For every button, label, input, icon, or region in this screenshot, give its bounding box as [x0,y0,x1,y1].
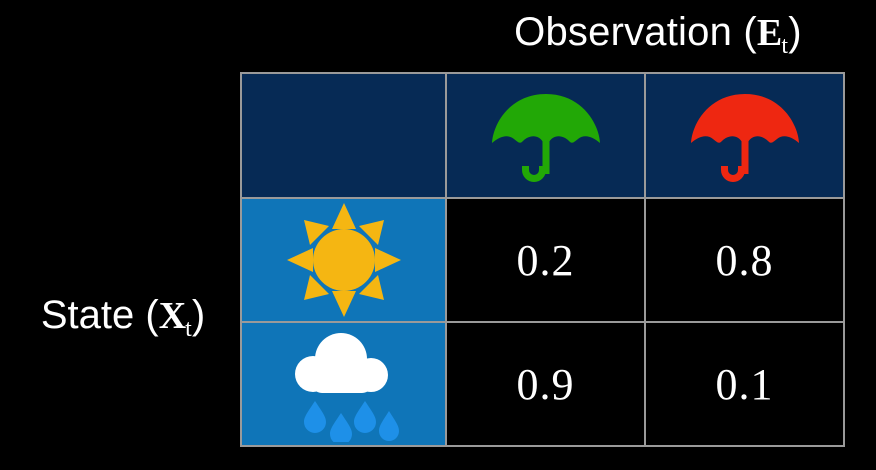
row-header-sun [241,198,446,322]
table-row: 0.2 0.8 [241,198,844,322]
table-header-row [241,73,844,198]
sun-icon [284,201,404,319]
observation-title-prefix: Observation ( [514,10,757,54]
state-subscript: t [185,316,192,342]
probability-cell: 0.9 [446,322,645,446]
state-title-suffix: ) [192,293,205,337]
observation-title: Observation (Et) [478,12,838,58]
column-header-red-umbrella [645,73,844,198]
umbrella-green-icon [487,86,605,186]
rain-cloud-icon [279,327,409,442]
probability-cell: 0.1 [645,322,844,446]
state-title-prefix: State ( [41,293,159,337]
table-corner-cell [241,73,446,198]
state-variable: X [159,295,186,337]
state-title: State (Xt) [12,295,234,341]
probability-cell: 0.2 [446,198,645,322]
conditional-probability-table: 0.2 0.8 [240,72,845,447]
table-row: 0.9 0.1 [241,322,844,446]
observation-title-suffix: ) [788,10,802,54]
umbrella-red-icon [686,86,804,186]
row-header-rain-cloud [241,322,446,446]
observation-variable: E [757,12,783,54]
column-header-green-umbrella [446,73,645,198]
raindrops [304,401,399,442]
probability-cell: 0.8 [645,198,844,322]
